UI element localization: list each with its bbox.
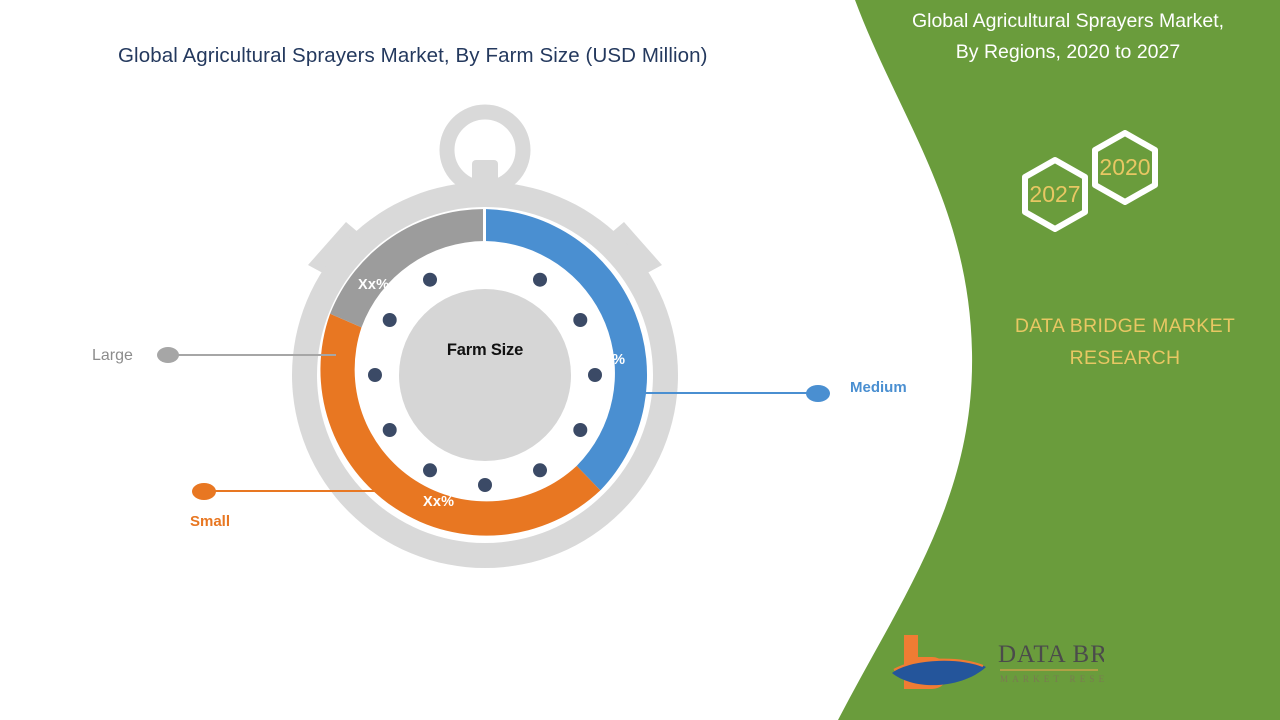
data-bridge-logo-icon: DATA BRIDGE MARKET RESEARCH <box>884 627 1104 699</box>
callout-label-medium[interactable]: Medium <box>850 379 907 396</box>
segment-value-small: Xx% <box>423 494 454 510</box>
logo-tagline-text: MARKET RESEARCH <box>1000 674 1104 684</box>
stopwatch-graphic <box>250 100 720 580</box>
left-chart-panel: Global Agricultural Sprayers Market, By … <box>0 0 870 720</box>
callout-line-small <box>208 490 408 492</box>
year-hexagons: 2027 2020 <box>985 130 1185 260</box>
callout-line-large <box>176 354 336 356</box>
brand-name-line1: DATA BRIDGE MARKET <box>975 310 1275 342</box>
segment-value-large: Xx% <box>358 277 389 293</box>
callout-label-small[interactable]: Small <box>190 513 230 530</box>
brand-panel-title-line2: By Regions, 2020 to 2027 <box>862 37 1274 68</box>
callout-dot-medium[interactable] <box>806 385 830 402</box>
hexagon-group: 2027 2020 <box>985 130 1185 260</box>
hexagon-2027-label: 2027 <box>1029 181 1080 207</box>
infographic-canvas: Global Agricultural Sprayers Market, By … <box>0 0 1280 720</box>
brand-panel-title-line1: Global Agricultural Sprayers Market, <box>862 6 1274 37</box>
callout-dot-small[interactable] <box>192 483 216 500</box>
logo-primary-text: DATA BRIDGE <box>998 641 1104 668</box>
brand-name-line2: RESEARCH <box>975 342 1275 374</box>
hexagon-2020-label: 2020 <box>1099 154 1150 180</box>
segment-divider <box>483 207 486 243</box>
brand-name: DATA BRIDGE MARKET RESEARCH <box>975 310 1275 374</box>
callout-label-large[interactable]: Large <box>92 347 133 365</box>
company-logo[interactable]: DATA BRIDGE MARKET RESEARCH <box>884 627 1104 699</box>
stopwatch-hub-icon <box>399 289 571 461</box>
page-title: Global Agricultural Sprayers Market, By … <box>118 44 838 68</box>
brand-panel-title: Global Agricultural Sprayers Market, By … <box>862 6 1274 68</box>
callout-dot-large[interactable] <box>157 347 179 363</box>
callout-line-medium <box>638 392 814 394</box>
segment-value-medium: Xx% <box>594 352 625 368</box>
donut-chart: Farm Size <box>250 100 720 580</box>
